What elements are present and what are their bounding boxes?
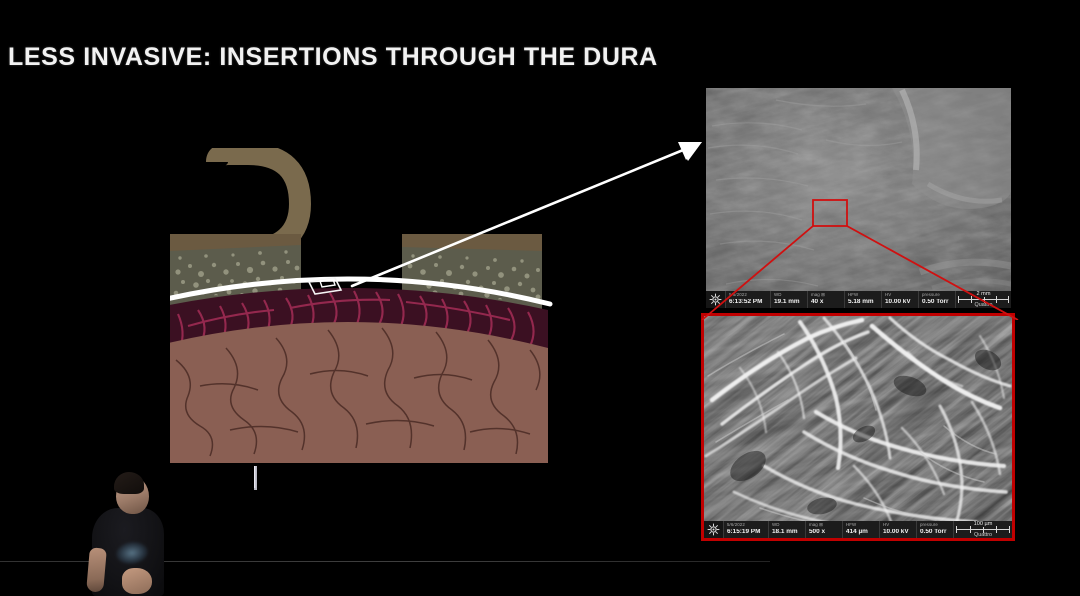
sem-top-micrograph: [706, 88, 1011, 308]
presenter-hands: [122, 568, 152, 594]
sem-top-timestamp: 5/6/2022 6:13:52 PM: [726, 291, 771, 308]
presenter-on-stage: [78, 470, 183, 596]
brain-cortex: [170, 322, 548, 463]
sem-bottom-field-hv: HV 10.00 kV: [880, 521, 917, 538]
sem-bottom-databar: 5/6/2022 6:15:19 PM WD 18.1 mm mag ⊞ 500…: [704, 521, 1012, 538]
sem-top-field-mag: mag ⊞ 40 x: [808, 291, 845, 308]
sem-top-field-hfw: HFW 5.18 mm: [845, 291, 882, 308]
presentation-slide: LESS INVASIVE: INSERTIONS THROUGH THE DU…: [0, 0, 1080, 596]
sem-bottom-micrograph: [704, 316, 1012, 538]
sem-top-field-wd: WD 19.1 mm: [771, 291, 808, 308]
electrode-probe: [254, 466, 257, 490]
sem-bottom-field-wd: WD 18.1 mm: [769, 521, 806, 538]
sem-top-databar: 5/6/2022 6:13:52 PM WD 19.1 mm mag ⊞ 40 …: [706, 291, 1011, 308]
sem-top-field-pressure: pressure 0.50 Torr: [919, 291, 956, 308]
scale-bar-label: 100 µm: [972, 521, 995, 527]
sem-top-instrument: Quattro: [975, 302, 993, 308]
sem-top-field-hv: HV 10.00 kV: [882, 291, 919, 308]
sem-bottom-instrument: Quattro: [974, 532, 992, 538]
sem-bottom-scale-bar: 100 µm Quattro: [954, 521, 1012, 538]
scale-bar-label: 2 mm: [975, 291, 993, 297]
sem-bottom-image: 5/6/2022 6:15:19 PM WD 18.1 mm mag ⊞ 500…: [701, 313, 1015, 541]
page-title: LESS INVASIVE: INSERTIONS THROUGH THE DU…: [8, 43, 658, 72]
sem-bottom-timestamp: 5/6/2022 6:15:19 PM: [724, 521, 769, 538]
sem-bottom-field-hfw: HFW 414 µm: [843, 521, 880, 538]
thermo-fisher-logo-icon: [706, 291, 726, 308]
skull-brain-cross-section: [170, 148, 600, 490]
sem-bottom-field-mag: mag ⊞ 500 x: [806, 521, 843, 538]
thermo-fisher-logo-icon: [704, 521, 724, 538]
sem-top-scale-bar: 2 mm Quattro: [956, 291, 1011, 308]
sem-bottom-field-pressure: pressure 0.50 Torr: [917, 521, 954, 538]
presenter-hair: [114, 472, 144, 494]
sem-top-image: 5/6/2022 6:13:52 PM WD 19.1 mm mag ⊞ 40 …: [706, 88, 1011, 308]
